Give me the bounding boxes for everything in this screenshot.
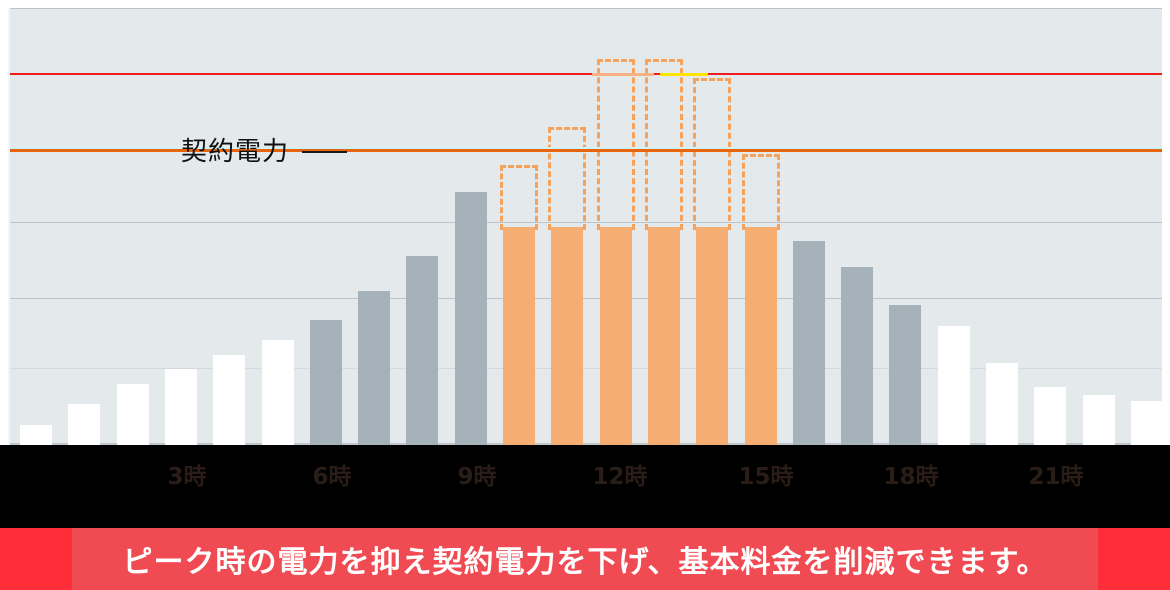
bar-1時 [68,404,100,445]
x-axis-band: 3時6時9時12時15時18時21時 [0,445,1170,510]
bar-6時 [310,320,342,445]
banner-region: ピーク時の電力を抑え契約電力を下げ、基本料金を削減できます。 [0,510,1170,590]
bar-22時 [1083,395,1115,445]
bar-18時 [889,305,921,445]
bars-layer [10,8,1162,445]
x-tick-12時: 12時 [592,457,647,491]
bar-19時 [938,326,970,445]
bar-3時 [165,369,197,445]
bar-10時 [503,227,535,446]
bar-12時 [600,227,632,446]
bar-16時 [793,241,825,445]
bar-21時 [1034,387,1066,445]
x-tick-6時: 6時 [312,457,351,491]
bar-13時 [648,227,680,446]
chart-plot-area: 契約電力 [8,8,1162,445]
x-tick-18時: 18時 [883,457,938,491]
bar-8時 [406,256,438,445]
bar-11時 [551,227,583,446]
bar-17時 [841,267,873,445]
bar-23時 [1131,401,1163,445]
bar-14時 [696,227,728,446]
bar-20時 [986,363,1018,445]
x-tick-9時: 9時 [457,457,496,491]
bar-0時 [20,425,52,445]
bar-2時 [117,384,149,445]
chart-screenshot: 契約電力 3時6時9時12時15時18時21時 ピーク時の電力を抑え契約電力を下… [0,0,1170,590]
contract-label-leader-line [302,151,347,153]
contract-power-label: 契約電力 [181,139,289,165]
bar-7時 [358,291,390,445]
bar-9時 [455,192,487,445]
banner-message-text: ピーク時の電力を抑え契約電力を下げ、基本料金を削減できます。 [123,537,1048,581]
bar-15時 [745,227,777,446]
message-banner: ピーク時の電力を抑え契約電力を下げ、基本料金を削減できます。 [72,528,1098,590]
x-tick-21時: 21時 [1028,457,1083,491]
x-tick-3時: 3時 [167,457,206,491]
x-tick-15時: 15時 [738,457,793,491]
bar-4時 [213,355,245,445]
bar-5時 [262,340,294,445]
